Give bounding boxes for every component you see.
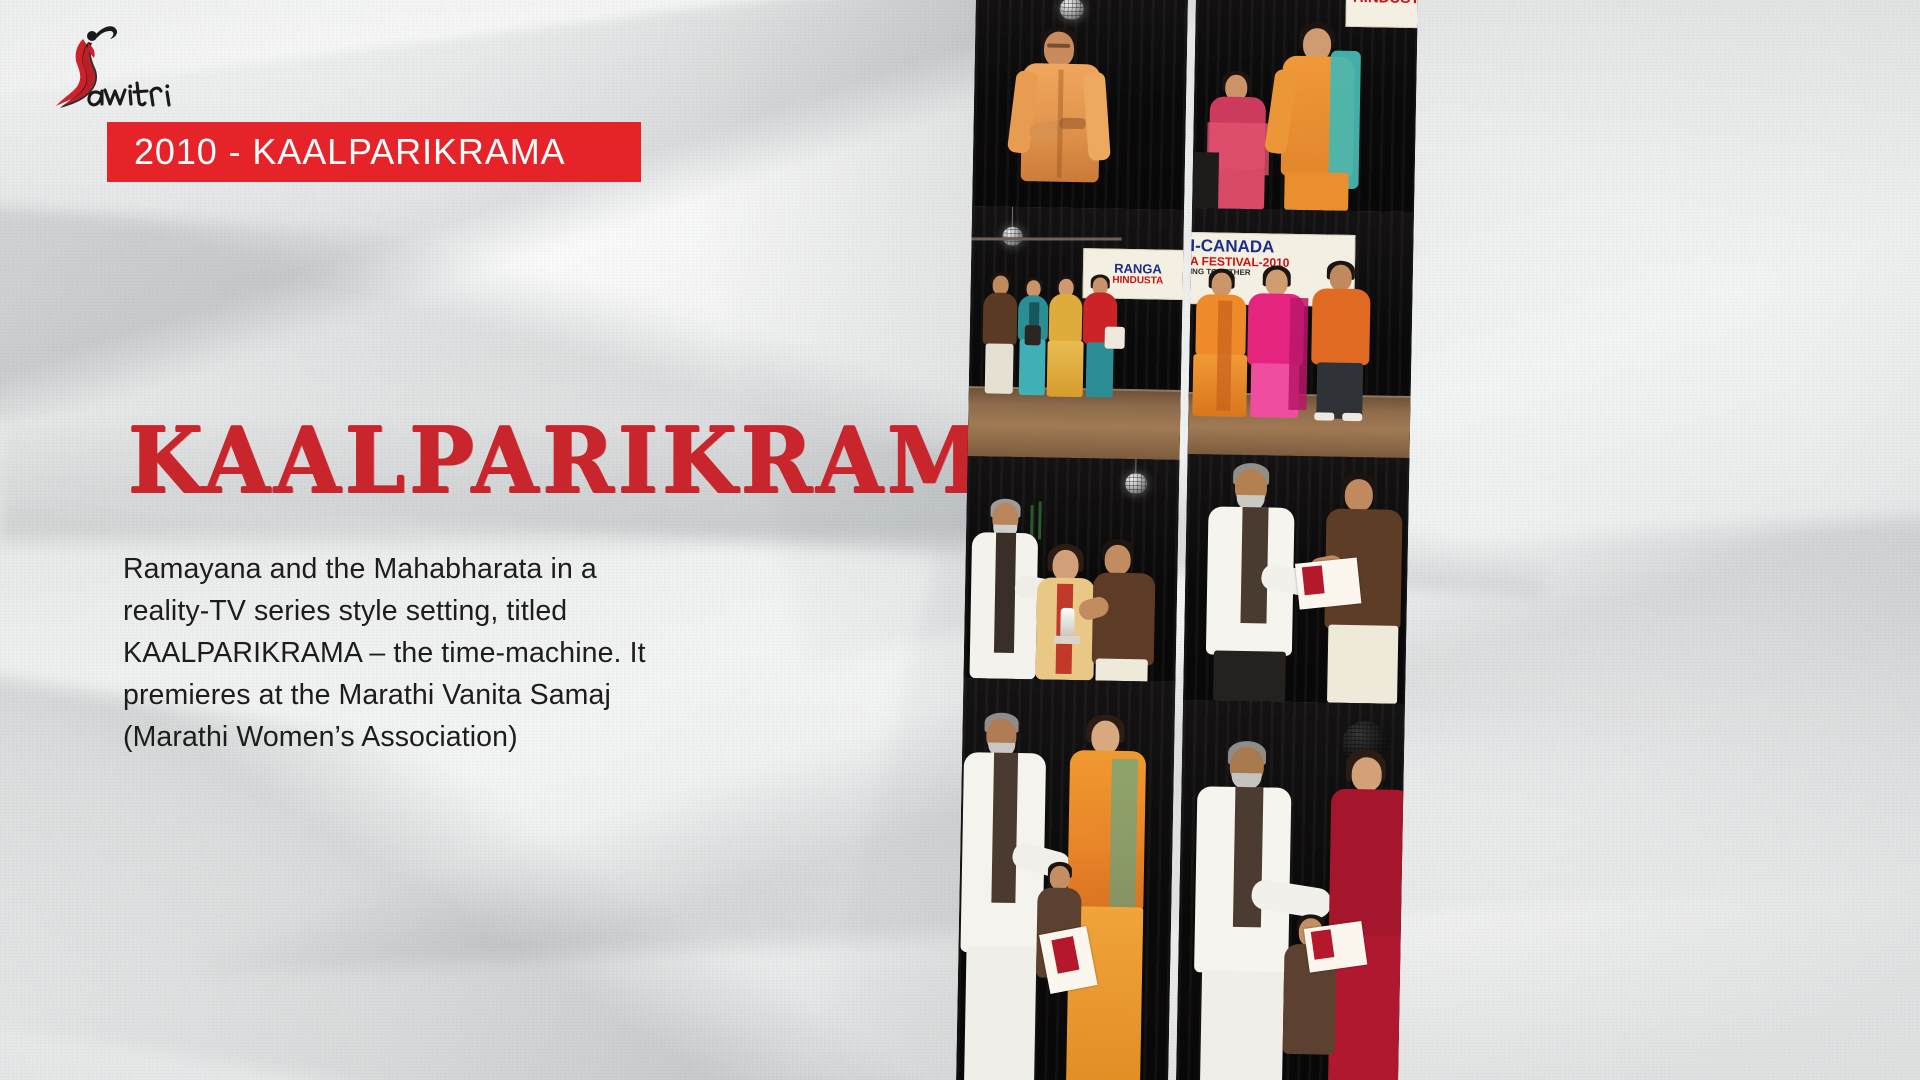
photo-cast-lineup-right[interactable]: I-CANADA A FESTIVAL-2010 ING TOGETHER xyxy=(1188,208,1414,458)
photo-actor-on-stage[interactable] xyxy=(972,0,1188,210)
page-title: KAALPARIKRAMA xyxy=(128,416,1057,507)
slide-root: 2010 - KAALPARIKRAMA KAALPARIKRAMA Ramay… xyxy=(0,0,1920,1080)
photo-strip-right: HINDUSTAN I-CANADA A FESTIVAL-2010 ING T… xyxy=(1176,0,1419,1080)
body-paragraph: Ramayana and the Mahabharata in a realit… xyxy=(123,548,683,758)
photo-speaker-at-mic[interactable]: HINDUSTAN xyxy=(1192,0,1418,212)
photo-cast-lineup-left[interactable]: RANGA HINDUSTA xyxy=(968,206,1185,460)
savitri-logo[interactable] xyxy=(30,22,180,122)
photo-certificate-handover-right[interactable] xyxy=(1183,454,1409,704)
festival-banner-top-right: HINDUSTAN xyxy=(1345,0,1418,29)
photo-certificate-handover-left[interactable] xyxy=(956,678,1176,1080)
photo-strip-left: RANGA HINDUSTA xyxy=(956,0,1188,1080)
photo-award-ceremony-right[interactable] xyxy=(1176,700,1405,1080)
savitri-logo-icon xyxy=(30,22,180,122)
photo-trophy-presentation[interactable] xyxy=(963,456,1179,682)
year-ribbon: 2010 - KAALPARIKRAMA xyxy=(107,122,641,182)
year-ribbon-label: 2010 - KAALPARIKRAMA xyxy=(107,131,566,173)
